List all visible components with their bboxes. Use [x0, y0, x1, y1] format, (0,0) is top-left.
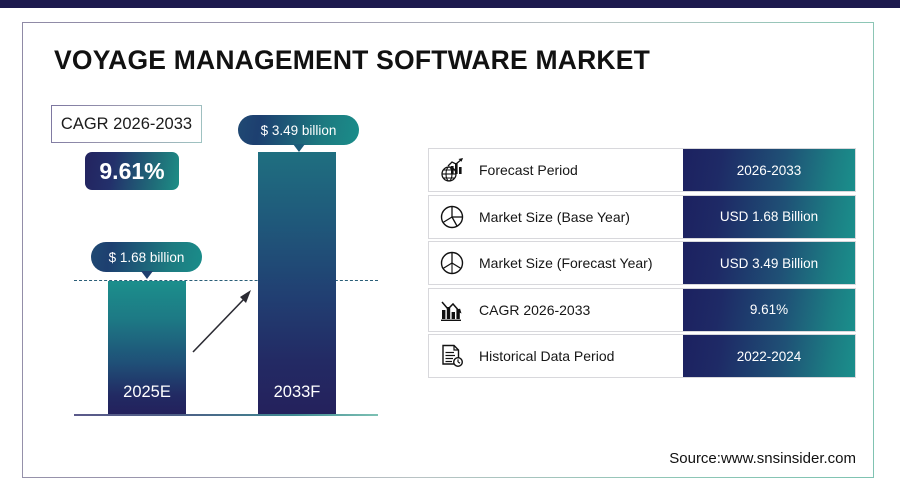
table-row: Historical Data Period 2022-2024	[428, 334, 856, 378]
market-spec-table: Forecast Period 2026-2033 Market Size (B…	[428, 148, 856, 381]
pointer-nub-icon	[293, 144, 305, 152]
table-row: Forecast Period 2026-2033	[428, 148, 856, 192]
table-row: Market Size (Base Year) USD 1.68 Billion	[428, 195, 856, 239]
bar-2025: 2025E	[108, 281, 186, 414]
pointer-nub-icon	[141, 271, 153, 279]
chart-baseline-axis	[74, 414, 378, 416]
bar-category-label-2033: 2033F	[258, 383, 336, 402]
table-row: CAGR 2026-2033 9.61%	[428, 288, 856, 332]
bar-chart: $ 1.68 billion $ 3.49 billion 2025E 2033…	[0, 0, 420, 500]
table-value: USD 1.68 Billion	[683, 196, 855, 238]
source-attribution: Source:www.snsinsider.com	[669, 450, 856, 467]
bar-value-label-2025: $ 1.68 billion	[91, 242, 202, 272]
table-label: Historical Data Period	[475, 335, 683, 377]
table-value: 9.61%	[683, 289, 855, 331]
table-value: USD 3.49 Billion	[683, 242, 855, 284]
table-row: Market Size (Forecast Year) USD 3.49 Bil…	[428, 241, 856, 285]
table-value: 2022-2024	[683, 335, 855, 377]
bar-2033: 2033F	[258, 152, 336, 414]
growth-arrow-icon	[185, 280, 265, 360]
table-label: Market Size (Forecast Year)	[475, 242, 683, 284]
pie-chart-alt-icon	[429, 242, 475, 284]
bar-value-label-2033: $ 3.49 billion	[238, 115, 359, 145]
globe-growth-icon	[429, 149, 475, 191]
table-value: 2026-2033	[683, 149, 855, 191]
bar-value-text-2033: $ 3.49 billion	[261, 123, 337, 138]
bar-category-label-2025: 2025E	[108, 383, 186, 402]
table-label: Market Size (Base Year)	[475, 196, 683, 238]
bar-value-text-2025: $ 1.68 billion	[109, 250, 185, 265]
document-clock-icon	[429, 335, 475, 377]
bar-trend-down-icon	[429, 289, 475, 331]
table-label: CAGR 2026-2033	[475, 289, 683, 331]
pie-chart-icon	[429, 196, 475, 238]
table-label: Forecast Period	[475, 149, 683, 191]
